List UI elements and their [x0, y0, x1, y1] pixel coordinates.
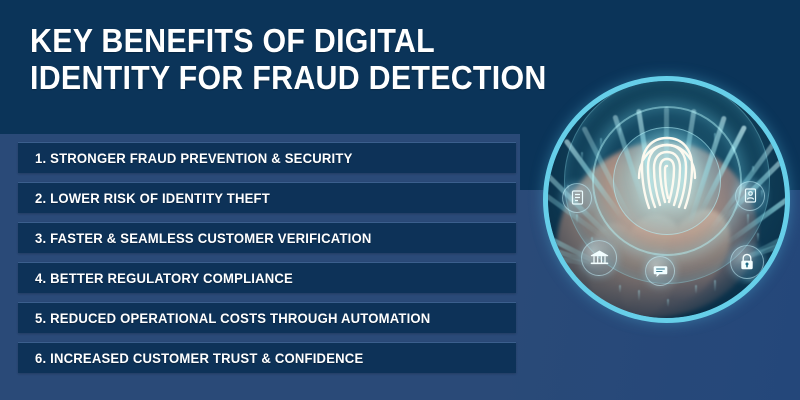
list-item: 4. BETTER REGULATORY COMPLIANCE — [18, 262, 516, 293]
page-title-line-2: IDENTITY FOR FRAUD DETECTION — [30, 59, 490, 96]
data-tick — [667, 299, 669, 307]
benefit-label-1: 1. STRONGER FRAUD PREVENTION & SECURITY — [35, 151, 353, 166]
data-tick — [714, 280, 716, 292]
page-title: KEY BENEFITS OF DIGITAL IDENTITY FOR FRA… — [30, 22, 530, 96]
bank-icon — [581, 240, 617, 276]
data-tick — [695, 285, 697, 294]
list-item: 6. INCREASED CUSTOMER TRUST & CONFIDENCE — [18, 342, 516, 373]
data-tick — [757, 233, 759, 242]
benefit-label-6: 6. INCREASED CUSTOMER TRUST & CONFIDENCE — [35, 351, 363, 366]
id-card-icon — [735, 181, 765, 211]
list-item: 3. FASTER & SEAMLESS CUSTOMER VERIFICATI… — [18, 222, 516, 253]
benefit-label-3: 3. FASTER & SEAMLESS CUSTOMER VERIFICATI… — [35, 231, 372, 246]
list-item: 2. LOWER RISK OF IDENTITY THEFT — [18, 182, 516, 213]
data-tick — [638, 290, 640, 301]
benefit-label-4: 4. BETTER REGULATORY COMPLIANCE — [35, 271, 293, 286]
benefit-label-5: 5. REDUCED OPERATIONAL COSTS THROUGH AUT… — [35, 311, 430, 326]
light-ray — [548, 288, 593, 293]
page-title-line-1: KEY BENEFITS OF DIGITAL — [30, 22, 490, 59]
data-tick — [619, 285, 621, 293]
fingerprint-icon — [629, 126, 705, 226]
list-item: 5. REDUCED OPERATIONAL COSTS THROUGH AUT… — [18, 302, 516, 333]
benefit-label-2: 2. LOWER RISK OF IDENTITY THEFT — [35, 191, 270, 206]
photo-inner — [548, 81, 785, 318]
infographic-canvas: KEY BENEFITS OF DIGITAL IDENTITY FOR FRA… — [0, 0, 800, 400]
document-icon — [562, 183, 592, 213]
biometric-photo-circle — [543, 76, 790, 323]
benefits-list: 1. STRONGER FRAUD PREVENTION & SECURITY … — [18, 142, 516, 373]
lock-icon — [730, 245, 764, 279]
list-item: 1. STRONGER FRAUD PREVENTION & SECURITY — [18, 142, 516, 173]
